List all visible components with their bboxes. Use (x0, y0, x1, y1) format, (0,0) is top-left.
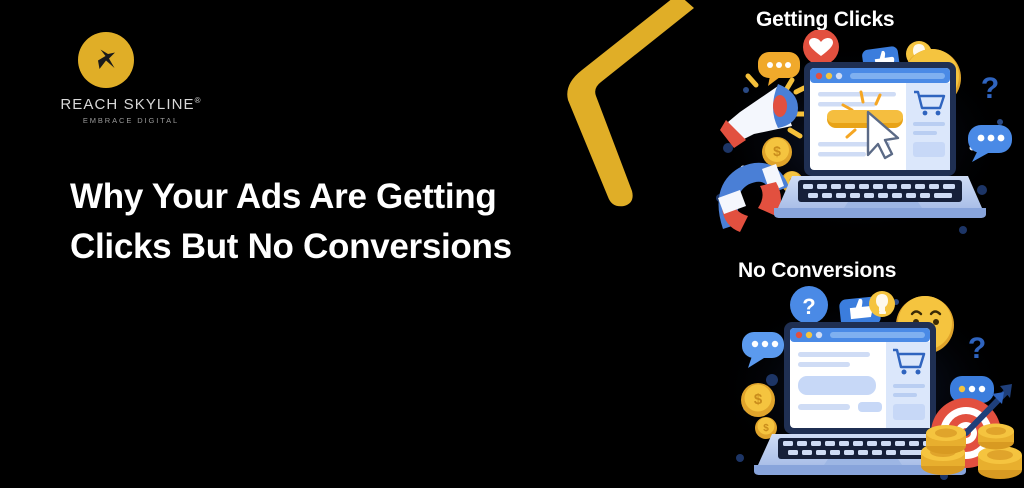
brand-logo: REACH SKYLINE® EMBRACE DIGITAL (46, 32, 216, 125)
question-mark-icon: ? (981, 72, 999, 105)
illustration-panel-getting-clicks: Getting Clicks (700, 0, 1024, 245)
svg-text:?: ? (802, 294, 815, 319)
gold-chevron-arrow (556, 0, 706, 222)
getting-clicks-illustration: $ $ (700, 30, 1024, 235)
reach-skyline-star-mark (78, 32, 134, 88)
headline-line-1: Why Your Ads Are Getting (70, 177, 496, 216)
question-mark-icon: ? (790, 286, 828, 324)
illustration-panel-no-conversions: No Conversions (700, 252, 1024, 483)
headline-line-2: Clicks But No Conversions (70, 222, 600, 272)
no-conversions-illustration: ? (700, 280, 1024, 483)
heart-reaction-icon (803, 30, 839, 65)
laptop-icon (774, 62, 986, 218)
question-mark-icon: ? (968, 332, 986, 365)
registered-mark: ® (195, 96, 202, 105)
brand-tagline: EMBRACE DIGITAL (46, 116, 216, 125)
lightbulb-icon (869, 291, 895, 317)
svg-text:$: $ (754, 391, 763, 408)
ad-banner: REACH SKYLINE® EMBRACE DIGITAL Why Your … (0, 0, 1024, 483)
panel-label-getting-clicks: Getting Clicks (756, 8, 894, 32)
page-title: Why Your Ads Are Getting Clicks But No C… (70, 172, 600, 271)
svg-text:$: $ (763, 423, 769, 434)
svg-text:$: $ (773, 143, 781, 159)
brand-name: REACH SKYLINE® (46, 96, 216, 113)
